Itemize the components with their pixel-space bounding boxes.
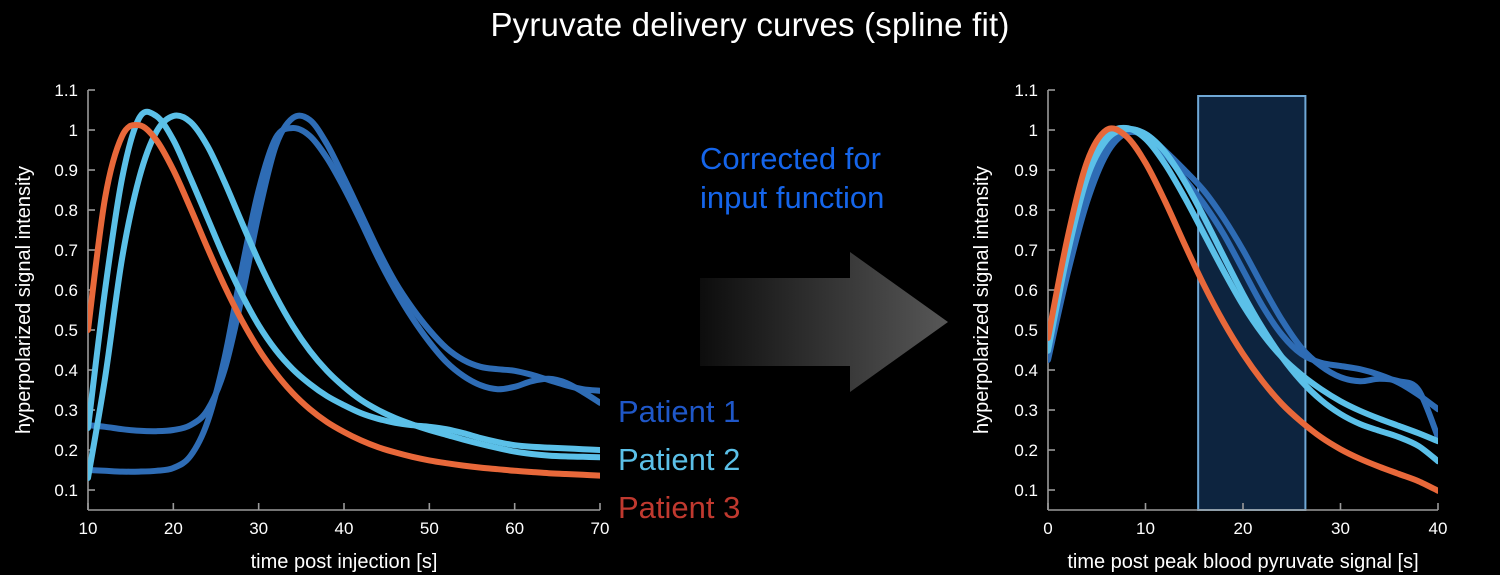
transition-arrow	[690, 250, 960, 400]
y-tick-label: 0.7	[1014, 241, 1038, 260]
y-tick-label: 0.9	[54, 161, 78, 180]
annotation-line-2: input function	[700, 179, 950, 218]
chart-svg-left: 0.10.20.30.40.50.60.70.80.911.1102030405…	[0, 0, 800, 575]
x-tick-label: 40	[1429, 519, 1448, 538]
y-tick-label: 0.1	[54, 481, 78, 500]
right-arrow-icon	[700, 252, 948, 392]
curve-patient2	[88, 112, 600, 450]
y-tick-label: 0.2	[54, 441, 78, 460]
x-tick-label: 30	[1331, 519, 1350, 538]
y-tick-label: 0.4	[54, 361, 78, 380]
x-axis-title: time post peak blood pyruvate signal [s]	[1067, 551, 1418, 573]
x-tick-label: 10	[1136, 519, 1155, 538]
x-axis-title: time post injection [s]	[251, 551, 438, 573]
y-tick-label: 1.1	[1014, 81, 1038, 100]
x-tick-label: 70	[591, 519, 610, 538]
y-axis-title: hyperpolarized signal intensity	[13, 166, 35, 434]
curves-group	[88, 112, 600, 478]
y-tick-label: 0.5	[1014, 321, 1038, 340]
annotation-corrected-for-input-function: Corrected for input function	[700, 140, 950, 218]
y-tick-label: 0.3	[1014, 401, 1038, 420]
y-tick-label: 0.3	[54, 401, 78, 420]
annotation-line-1: Corrected for	[700, 140, 950, 179]
y-axis-title: hyperpolarized signal intensity	[971, 166, 993, 434]
curve-patient2	[88, 116, 600, 478]
x-tick-label: 60	[505, 519, 524, 538]
y-tick-label: 1.1	[54, 81, 78, 100]
y-tick-label: 0.6	[1014, 281, 1038, 300]
y-tick-label: 0.2	[1014, 441, 1038, 460]
x-tick-label: 10	[79, 519, 98, 538]
chart-svg-right: 0.10.20.30.40.50.60.70.80.911.1010203040…	[960, 0, 1500, 575]
y-tick-label: 0.1	[1014, 481, 1038, 500]
chart-panel-right: 0.10.20.30.40.50.60.70.80.911.1010203040…	[960, 0, 1500, 575]
x-tick-label: 20	[164, 519, 183, 538]
y-tick-label: 1	[1029, 121, 1038, 140]
y-tick-label: 0.8	[54, 201, 78, 220]
y-tick-label: 0.9	[1014, 161, 1038, 180]
y-tick-label: 1	[69, 121, 78, 140]
y-tick-label: 0.6	[54, 281, 78, 300]
y-tick-label: 0.5	[54, 321, 78, 340]
x-tick-label: 20	[1234, 519, 1253, 538]
y-tick-label: 0.4	[1014, 361, 1038, 380]
y-tick-label: 0.8	[1014, 201, 1038, 220]
legend-item-2: Patient 2	[618, 442, 740, 477]
y-tick-label: 0.7	[54, 241, 78, 260]
chart-panel-left: 0.10.20.30.40.50.60.70.80.911.1102030405…	[0, 0, 800, 575]
x-tick-label: 0	[1043, 519, 1052, 538]
figure-root: Pyruvate delivery curves (spline fit) 0.…	[0, 0, 1500, 575]
x-tick-label: 30	[249, 519, 268, 538]
x-tick-label: 40	[335, 519, 354, 538]
legend-item-3: Patient 3	[618, 490, 740, 525]
x-tick-label: 50	[420, 519, 439, 538]
